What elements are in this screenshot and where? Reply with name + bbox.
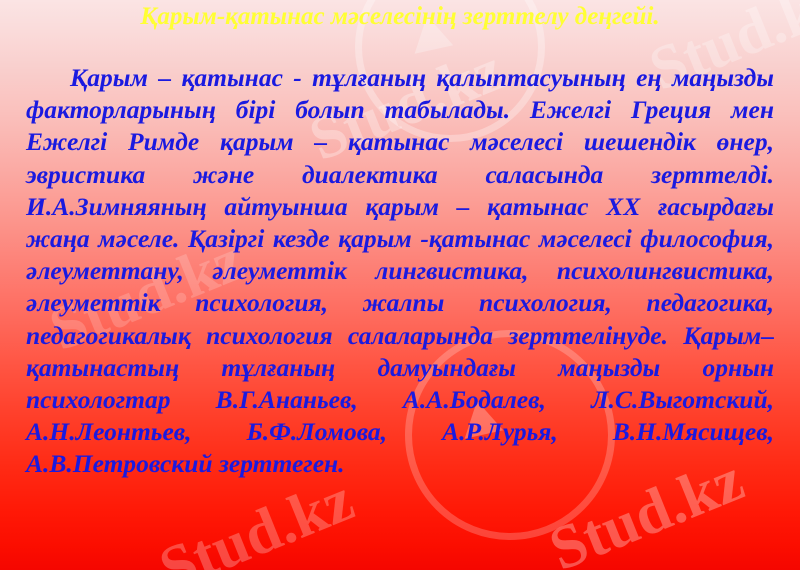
slide-title: Қарым-қатынас мәселесінің зерттелу деңге… [0, 2, 800, 32]
slide-body-text: Қарым – қатынас - тұлғаның қалыптасуының… [26, 62, 774, 481]
slide-canvas: Stud.kz Stud.kz Stud.kz Stud.kz Stud.kz … [0, 0, 800, 570]
body-paragraph: Қарым – қатынас - тұлғаның қалыптасуының… [26, 62, 774, 481]
